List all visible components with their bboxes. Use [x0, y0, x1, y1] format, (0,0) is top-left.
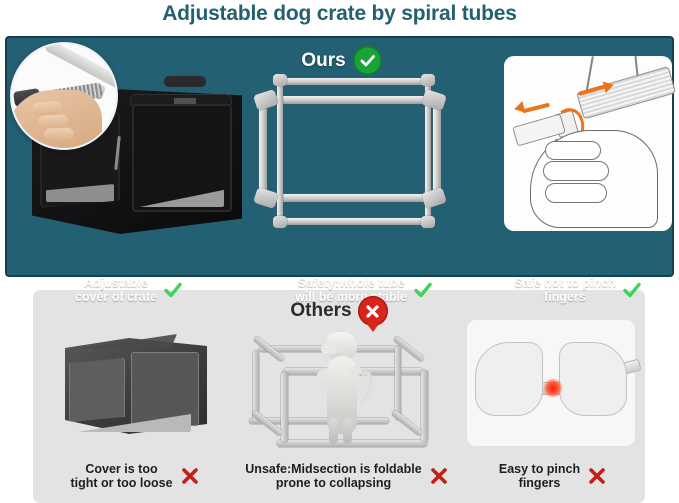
ours-label: Ours [301, 50, 345, 72]
page-title: Adjustable dog crate by spiral tubes [0, 2, 679, 26]
ours-panel: Ours [5, 36, 674, 277]
hand-twisting-spiral-tube-lock-illustration [504, 56, 672, 231]
gray-foldable-frame-with-dog-illustration [237, 324, 457, 454]
frame-bar-back-bottom [279, 218, 429, 225]
frame-bar-back-top [279, 78, 429, 85]
gframe-midsection-hinge [391, 410, 423, 437]
crate-side-floor [46, 184, 114, 202]
crate-handle [164, 76, 206, 87]
magnifier-finger [44, 127, 74, 141]
red-x-icon [180, 466, 200, 486]
frame-bar-front-bottom [259, 194, 441, 202]
crate-front-door-panel [132, 104, 232, 212]
gframe-bar-back-right [395, 346, 401, 420]
hand-finger [543, 161, 609, 181]
others-cell-loose-cover [33, 312, 237, 460]
green-check-circle-icon [353, 46, 382, 75]
caption-text: Unsafe:Midsection is foldable prone to c… [245, 462, 421, 491]
red-x-icon [429, 466, 449, 486]
hand-finger [545, 141, 601, 160]
others-cell-pinch-fingers [457, 312, 645, 460]
others-caption-loose-cover: Cover is too tight or too loose [33, 462, 237, 491]
others-caption-foldable-midsection: Unsafe:Midsection is foldable prone to c… [229, 462, 465, 491]
crate-front-floor [138, 185, 224, 207]
frame-bar-front-top [259, 96, 441, 104]
red-x-icon [587, 466, 607, 486]
pinch-injury-icon [543, 378, 563, 398]
caption-text: Cover is too tight or too loose [70, 462, 172, 491]
others-panel: Others [33, 290, 645, 503]
hand-finger [545, 183, 607, 203]
frame-corner-connector [421, 216, 435, 228]
right-hand-outline [559, 342, 627, 416]
orange-arrow-shaft-left [522, 103, 550, 114]
others-header: Others [33, 296, 645, 326]
grayscale-loose-fabric-crate-photo [59, 326, 211, 442]
dog-hind-leg [329, 418, 338, 444]
gray-crate-side-panel [69, 358, 125, 422]
caption-text: Easy to pinch fingers [499, 462, 580, 491]
frame-corner-connector [421, 74, 435, 86]
frame-corner-connector [273, 74, 287, 86]
hands-pinched-by-tube-illustration [467, 320, 635, 446]
hand-outline-graphic [530, 130, 658, 228]
frame-corner-connector [253, 187, 279, 209]
frame-bar-front-left [259, 100, 267, 200]
dog-illustration [313, 330, 373, 442]
ours-header: Ours [7, 46, 676, 75]
frame-corner-connector [253, 89, 279, 111]
left-hand-outline [475, 342, 543, 416]
magnifier-finger [38, 114, 69, 129]
red-x-badge-icon [358, 296, 388, 326]
frame-bar-front-right [433, 100, 441, 200]
others-cell-foldable-midsection [237, 312, 457, 460]
others-caption-pinch-fingers: Easy to pinch fingers [461, 462, 645, 491]
dog-hind-leg [343, 418, 352, 444]
dog-snout [321, 344, 337, 354]
silver-tube-frame-diagram [251, 70, 467, 242]
orange-arrow-head-left [513, 101, 526, 115]
others-label: Others [290, 300, 351, 322]
frame-corner-connector [273, 216, 287, 228]
